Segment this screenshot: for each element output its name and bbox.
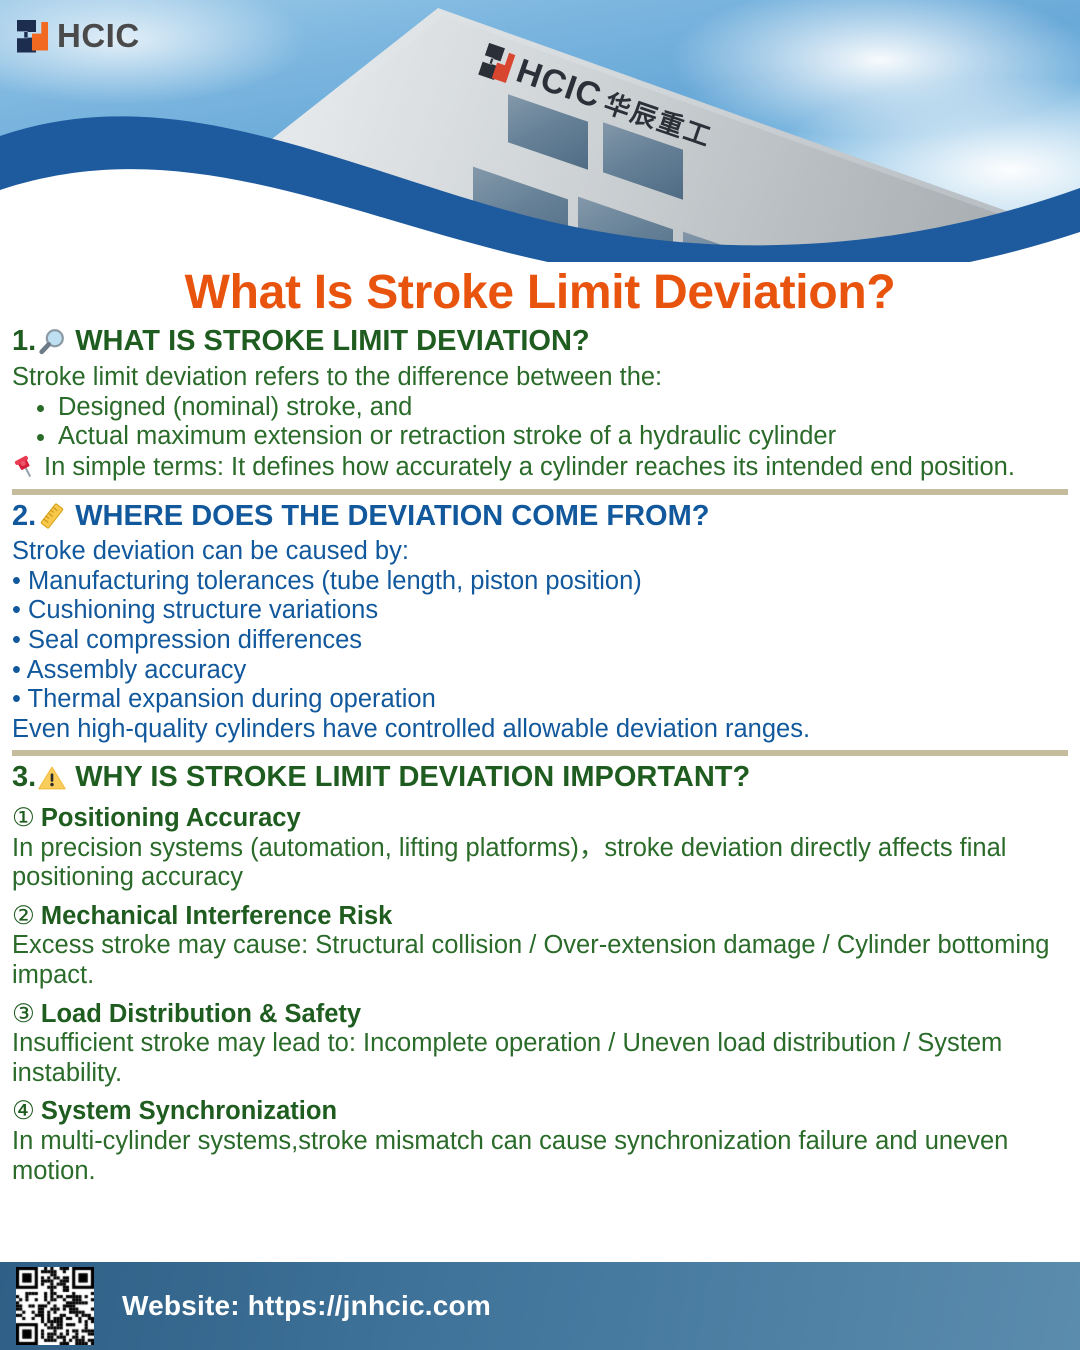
section-3-item-title: ①Positioning Accuracy [12, 803, 1068, 834]
section-3-title: WHY IS STROKE LIMIT DEVIATION IMPORTANT? [75, 760, 750, 795]
section-2-heading: 2. WHERE DOES THE DEVIATION COME FROM? [12, 499, 1068, 534]
section-1-heading: 1. WHAT IS STROKE LIMIT DEVIATION? [12, 324, 1068, 359]
item-title: Positioning Accuracy [41, 804, 301, 832]
ruler-icon [37, 501, 67, 531]
section-1-bullets: Designed (nominal) stroke, and Actual ma… [12, 393, 1068, 452]
item-body: In multi-cylinder systems,stroke mismatc… [12, 1127, 1068, 1186]
item-body: Excess stroke may cause: Structural coll… [12, 931, 1068, 990]
section-3-heading: 3. WHY IS STROKE LIMIT DEVIATION IMPORTA… [12, 760, 1068, 795]
hero-banner: HCIC 华辰重工 HCIC [0, 0, 1080, 262]
footer-bar: Website: https://jnhcic.com [0, 1262, 1080, 1350]
section-1-note: In simple terms: It defines how accurate… [12, 452, 1068, 483]
list-item: • Manufacturing tolerances (tube length,… [12, 567, 1068, 597]
section-3-item: ②Mechanical Interference Risk Excess str… [12, 901, 1068, 991]
hcic-logo-text: HCIC [57, 17, 140, 55]
list-item: Designed (nominal) stroke, and [58, 393, 1068, 423]
website-label[interactable]: Website: https://jnhcic.com [122, 1290, 491, 1322]
list-item: Actual maximum extension or retraction s… [58, 422, 1068, 452]
section-3-item-title: ②Mechanical Interference Risk [12, 901, 1068, 932]
content-area: 1. WHAT IS STROKE LIMIT DEVIATION? Strok… [0, 324, 1080, 1186]
item-title: Load Distribution & Safety [41, 1000, 361, 1028]
section-2-number: 2. [12, 499, 36, 534]
item-title: Mechanical Interference Risk [41, 902, 392, 930]
section-3-item-title: ④System Synchronization [12, 1096, 1068, 1127]
item-marker: ④ [12, 1097, 35, 1125]
magnifying-glass-icon [37, 327, 67, 357]
section-3: 3. WHY IS STROKE LIMIT DEVIATION IMPORTA… [12, 760, 1068, 1186]
section-2-outro: Even high-quality cylinders have control… [12, 715, 1068, 745]
section-1-number: 1. [12, 324, 36, 359]
item-marker: ③ [12, 1000, 35, 1028]
pushpin-icon [12, 452, 40, 480]
item-body: Insufficient stroke may lead to: Incompl… [12, 1029, 1068, 1088]
section-1-intro: Stroke limit deviation refers to the dif… [12, 363, 1068, 393]
section-3-item: ③Load Distribution & Safety Insufficient… [12, 999, 1068, 1089]
hcic-logo-mark-icon [17, 20, 48, 53]
item-title: System Synchronization [41, 1097, 337, 1125]
item-marker: ② [12, 902, 35, 930]
list-item: • Cushioning structure variations [12, 596, 1068, 626]
warning-triangle-icon [37, 763, 67, 793]
section-2-intro: Stroke deviation can be caused by: [12, 537, 1068, 567]
section-1-note-text: In simple terms: It defines how accurate… [44, 453, 1015, 481]
section-2: 2. WHERE DOES THE DEVIATION COME FROM? S… [12, 499, 1068, 745]
list-item: • Assembly accuracy [12, 656, 1068, 686]
list-item: • Seal compression differences [12, 626, 1068, 656]
qr-code-icon[interactable] [16, 1267, 94, 1345]
item-body: In precision systems (automation, liftin… [12, 834, 1068, 893]
page-title: What Is Stroke Limit Deviation? [0, 268, 1080, 318]
section-3-item: ①Positioning Accuracy In precision syste… [12, 803, 1068, 893]
blue-wave-divider [0, 96, 1080, 262]
section-3-item: ④System Synchronization In multi-cylinde… [12, 1096, 1068, 1186]
section-divider-2 [12, 750, 1068, 756]
hcic-logo: HCIC [17, 17, 140, 55]
section-2-title: WHERE DOES THE DEVIATION COME FROM? [75, 499, 709, 534]
list-item: • Thermal expansion during operation [12, 685, 1068, 715]
section-divider-1 [12, 489, 1068, 495]
section-3-number: 3. [12, 760, 36, 795]
section-1: 1. WHAT IS STROKE LIMIT DEVIATION? Strok… [12, 324, 1068, 482]
item-marker: ① [12, 804, 35, 832]
section-3-item-title: ③Load Distribution & Safety [12, 999, 1068, 1030]
section-1-title: WHAT IS STROKE LIMIT DEVIATION? [75, 324, 589, 359]
